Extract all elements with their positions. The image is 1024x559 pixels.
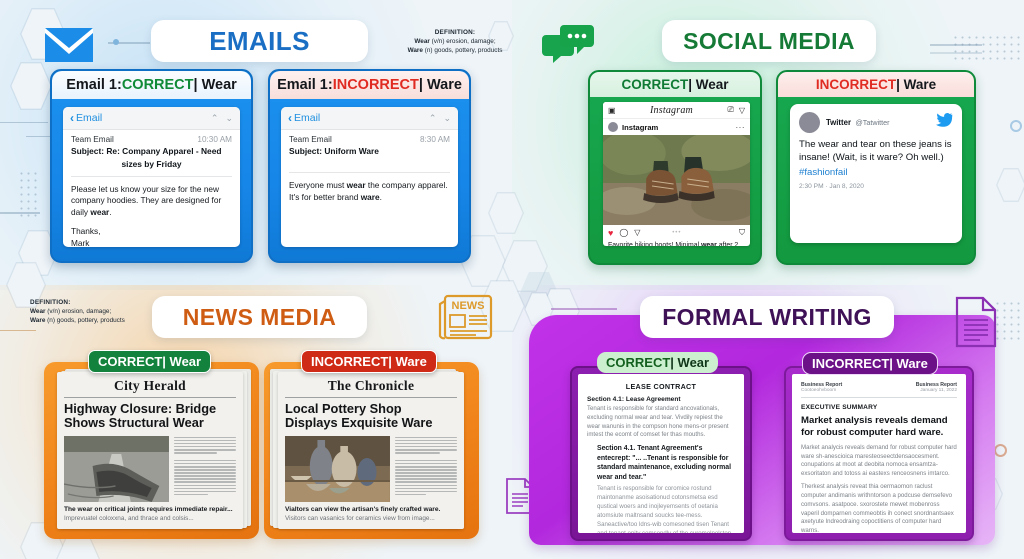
send-icon[interactable]: ▽ [739, 106, 745, 115]
twitter-post-header: Twitter @Tatwitter [799, 112, 953, 133]
instagram-appbar: ▣ Instagram ⎚ ▽ [603, 102, 750, 119]
email-client-correct[interactable]: ‹Email ⌃⌄ Team Email 10:30 AM Subject: R… [63, 107, 240, 247]
road-damage-photo [64, 436, 169, 502]
accent-line [930, 44, 982, 46]
twitter-bird-icon [936, 112, 953, 130]
email-incorrect-header: Email 1: INCORRECT | Ware [270, 71, 469, 99]
hexagon-outline [996, 168, 1024, 202]
definition-line-1: Wear (v/n) erosion, damage; [30, 307, 155, 316]
news-headline: Highway Closure: Bridge Shows Structural… [64, 402, 236, 431]
comment-icon[interactable]: ◯ [619, 228, 628, 237]
divider [64, 397, 236, 398]
section-heading: Section 4.1: Lease Agreement [587, 396, 735, 403]
twitter-hashtag[interactable]: #fashionfail [799, 167, 953, 178]
news-caption-sub: Imprevuatel coloxxna, and thrace and col… [64, 515, 236, 523]
accent-line [0, 122, 48, 123]
social-incorrect-header: INCORRECT | Ware [778, 72, 974, 97]
hexagon-outline [488, 192, 524, 234]
dot-grid [18, 170, 40, 220]
status-incorrect: INCORRECT [812, 356, 889, 371]
instagram-post-header: Instagram ··· [603, 119, 750, 135]
news-headline: Local Pottery Shop Displays Exquisite Wa… [285, 402, 457, 431]
email-sender: Team Email [71, 135, 114, 144]
definition-line-1: Wear (v/n) erosion, damage; [390, 37, 520, 46]
formal-incorrect-pill: INCORRECT | Ware [802, 352, 938, 375]
lease-contract-document: LEASE CONTRACT Section 4.1: Lease Agreem… [578, 374, 744, 533]
instagram-username[interactable]: Instagram [622, 123, 658, 132]
email-back-button[interactable]: ‹Email [288, 111, 320, 125]
chevron-up-icon[interactable]: ⌃ [429, 113, 437, 124]
chevron-up-icon[interactable]: ⌃ [211, 113, 219, 124]
more-options-icon[interactable]: ··· [736, 123, 746, 132]
status-correct: CORRECT [621, 77, 688, 92]
email-card-correct[interactable]: Email 1: CORRECT | Wear ‹Email ⌃⌄ Team E… [50, 69, 253, 263]
dot-grid [994, 300, 1024, 340]
share-icon[interactable]: ▽ [634, 228, 640, 237]
svg-text:NEWS: NEWS [452, 300, 485, 312]
document-kicker: Business Report Cootoeohvboom Business R… [801, 382, 957, 393]
hiking-boots-photo [603, 135, 750, 225]
pottery-shelf-photo [285, 436, 390, 502]
chevron-left-icon: ‹ [70, 111, 74, 125]
section-title-text: EMAILS [209, 26, 310, 57]
tv-icon[interactable]: ⎚ [727, 105, 733, 115]
status-incorrect: INCORRECT [333, 77, 419, 93]
definition-label: DEFINITION: [30, 298, 155, 307]
status-incorrect: INCORRECT [816, 77, 896, 92]
instagram-caption: Favorite hiking boots! Minimal wear afte… [603, 240, 750, 246]
news-caption: The wear on critical joints requires imm… [64, 506, 236, 515]
email-client-incorrect[interactable]: ‹Email ⌃⌄ Team Email 8:30 AM Subject: Un… [281, 107, 458, 247]
twitter-post[interactable]: Twitter @Tatwitter The wear and tear on … [790, 104, 962, 243]
instagram-wordmark: Instagram [616, 105, 728, 116]
heart-icon[interactable]: ♥ [608, 228, 613, 238]
instagram-post[interactable]: ▣ Instagram ⎚ ▽ Instagram ··· [603, 102, 750, 246]
dot-grid [952, 34, 1022, 60]
status-correct: CORRECT [606, 355, 670, 370]
email-body-incorrect: Everyone must wear the company apparel. … [281, 173, 458, 218]
infographic-canvas: EMAILS DEFINITION: Wear (v/n) erosion, d… [0, 0, 1024, 559]
email-subject: Subject: Uniform Ware [289, 146, 450, 157]
section-title-emails: EMAILS [151, 20, 368, 62]
avatar [608, 122, 618, 132]
divider [285, 397, 457, 398]
accent-line [551, 308, 617, 310]
masthead: The Chronicle [285, 378, 457, 394]
accent-line [108, 42, 150, 44]
email-correct-header: Email 1: CORRECT | Wear [52, 71, 251, 99]
formal-correct-pill: CORRECT | Wear [597, 352, 718, 373]
envelope-icon [43, 26, 95, 64]
hexagon-filled [519, 272, 559, 318]
twitter-handle[interactable]: @Tatwitter [855, 118, 889, 127]
accent-dot [113, 39, 119, 45]
chevron-left-icon: ‹ [288, 111, 292, 125]
camera-icon[interactable]: ▣ [608, 106, 616, 115]
accent-line [930, 52, 982, 54]
section-title-text: NEWS MEDIA [183, 304, 337, 331]
section-title-news: NEWS MEDIA [152, 296, 367, 338]
news-body-lines [174, 436, 236, 502]
social-correct-header: CORRECT | Wear [590, 72, 760, 97]
bookmark-icon[interactable]: ⛉ [739, 228, 745, 238]
news-body-lines [395, 436, 457, 502]
status-correct: CORRECT [98, 354, 162, 369]
chevron-down-icon[interactable]: ⌄ [225, 113, 233, 124]
definition-emails: DEFINITION: Wear (v/n) erosion, damage; … [390, 28, 520, 55]
twitter-timestamp: 2:30 PM · Jan 8, 2020 [799, 183, 953, 190]
social-card-incorrect[interactable]: INCORRECT | Ware Twitter @Tatwitter The … [776, 70, 976, 265]
email-sender: Team Email [289, 135, 332, 144]
divider [801, 397, 957, 398]
news-correct-pill: CORRECT | Wear [88, 350, 211, 373]
chat-bubbles-icon [542, 23, 594, 65]
email-navbar: ‹Email ⌃⌄ [63, 107, 240, 130]
paragraph: Therkest analysis reveat thia oermaomon … [801, 483, 957, 533]
report-headline: Market analysis reveals demand for robus… [801, 415, 957, 439]
email-card-incorrect[interactable]: Email 1: INCORRECT | Ware ‹Email ⌃⌄ Team… [268, 69, 471, 263]
definition-label: DEFINITION: [390, 28, 520, 37]
accent-ring [1010, 120, 1022, 132]
email-subject: Subject: Re: Company Apparel - Need [71, 146, 232, 157]
newspaper-correct: City Herald Highway Closure: Bridge Show… [57, 372, 243, 529]
exec-summary-label: EXECUTIVE SUMMARY [801, 404, 957, 411]
twitter-display-name[interactable]: Twitter [826, 118, 851, 127]
document-title: LEASE CONTRACT [587, 382, 735, 391]
business-report-document: Business Report Cootoeohvboom Business R… [792, 374, 966, 533]
definition-line-2: Ware (n) goods, pottery, products [390, 46, 520, 55]
news-caption-sub: Visitors can vasanics for ceramics view … [285, 515, 457, 523]
avatar [799, 112, 820, 133]
paragraph: Market analycis reveals demand for robus… [801, 444, 957, 479]
definition-line-2: Ware (n) goods, pottery, products [30, 316, 155, 325]
section-title-text: SOCIAL MEDIA [683, 28, 855, 55]
newspaper-stack-correct[interactable]: City Herald Highway Closure: Bridge Show… [57, 372, 247, 529]
section-title-formal: FORMAL WRITING [640, 296, 894, 338]
formal-card-correct[interactable]: LEASE CONTRACT Section 4.1: Lease Agreem… [570, 366, 752, 541]
paragraph: Tenant is responsible for standard ancov… [587, 405, 735, 440]
email-subject-line2: sizes by Friday [71, 159, 232, 170]
email-back-button[interactable]: ‹Email [70, 111, 102, 125]
masthead: City Herald [64, 378, 236, 394]
carousel-dots: ••• [672, 230, 681, 236]
section-title-social: SOCIAL MEDIA [662, 20, 876, 62]
accent-line [0, 212, 40, 214]
section-title-text: FORMAL WRITING [662, 304, 872, 331]
email-navbar: ‹Email ⌃⌄ [281, 107, 458, 130]
social-card-correct[interactable]: CORRECT | Wear ▣ Instagram ⎚ ▽ Instagram… [588, 70, 762, 265]
hexagon-outline [10, 62, 52, 110]
news-caption: Vialtors can view the artisan's finely c… [285, 506, 457, 515]
definition-news: DEFINITION: Wear (v/n) erosion, damage; … [30, 298, 155, 325]
paragraph: Tenant is responsible for coromice rostu… [597, 485, 735, 533]
twitter-text: The wear and tear on these jeans is insa… [799, 139, 953, 165]
newspaper-icon: NEWS [437, 292, 495, 342]
chevron-down-icon[interactable]: ⌄ [443, 113, 451, 124]
status-correct: CORRECT [122, 77, 194, 93]
instagram-actions: ♥ ◯ ▽ ••• ⛉ [603, 225, 750, 240]
accent-line [0, 330, 36, 331]
hexagon-outline [502, 240, 548, 292]
formal-card-incorrect[interactable]: Business Report Cootoeohvboom Business R… [784, 366, 974, 541]
newspaper-incorrect: The Chronicle Local Pottery Shop Display… [278, 372, 464, 529]
email-body-correct: Please let us know your size for the new… [63, 177, 240, 248]
accent-ring [994, 444, 1007, 457]
status-incorrect: INCORRECT [311, 354, 388, 369]
newspaper-stack-incorrect[interactable]: The Chronicle Local Pottery Shop Display… [276, 372, 466, 529]
news-incorrect-pill: INCORRECT | Ware [301, 350, 437, 373]
document-icon [954, 296, 998, 348]
email-time: 8:30 AM [420, 135, 450, 144]
highlighted-quote: Section 4.1. Tenant Agreement's entecrep… [597, 444, 735, 482]
document-date: January 11, 2022 [916, 388, 957, 393]
email-time: 10:30 AM [197, 135, 232, 144]
